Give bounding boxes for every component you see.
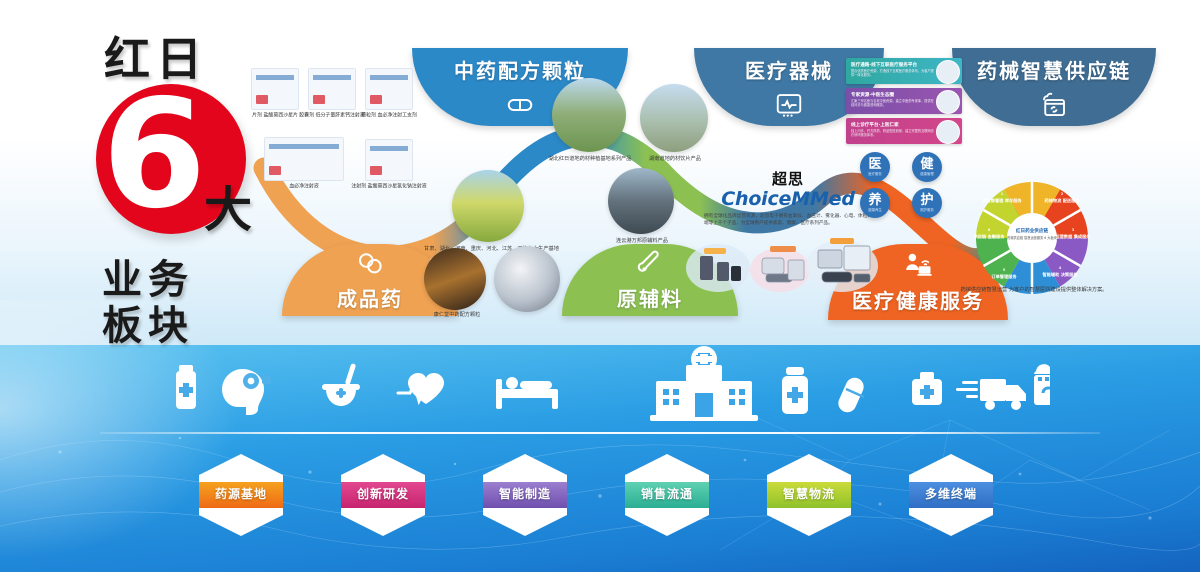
service-card[interactable]: 医疗通路·线下互联医疗服务平台 整合优质医疗资源，打造线下互联医疗服务体系，为客… [846,58,962,84]
hexagon-item[interactable]: 销售流通 [621,452,713,538]
mortar-pestle-icon [322,363,360,406]
hospital-building-icon [650,346,758,421]
product-photo [251,68,299,110]
capsule-icon [505,90,535,120]
photo-plant [608,168,674,234]
donut-label-4: 4智能辅助 决策服务 [1038,266,1082,277]
hexagon-label: 销售流通 [621,485,713,502]
badge-subtitle: 健康养生 [868,208,882,213]
badge-character: 医 [868,158,881,171]
photo-caption: 连云港万邦原辅料产品 [586,238,698,245]
product-caption: 颗粒剂 血必净注射工支剂 [351,112,426,119]
medical-icon-strip [150,345,1050,430]
product-photo [264,137,344,181]
title-line-business: 业务 [102,258,194,302]
value-chain-hexagons: 药源基地 创新研发 智能制造 [195,452,1015,538]
product-item: 胶囊剂 低分子量肝素钙注射液 [305,48,360,117]
card-title: 医疗通路·线下互联医疗服务平台 [851,62,917,68]
badge-jian[interactable]: 健 健康管理 [912,152,942,182]
photo-field [452,170,524,242]
character-da: 大 [204,186,252,234]
donut-label-1: 1供应商管理 库存服务 [980,192,1024,203]
monitor-icon [774,90,804,120]
section-label-text: 成品药 [337,283,403,312]
donut-caption: 药械供应链智慧运营 为客户的智慧医院建设提供整体解决方案。 [946,286,1122,294]
card-thumbnail [936,60,960,84]
telehealth-icon [903,250,933,280]
device-cluster-photos [684,222,884,294]
badge-subtitle: 健康管理 [920,172,934,177]
product-item: 片剂 盐酸莫西沙星片 [248,48,303,117]
cloud-link-icon [1039,90,1069,120]
product-caption: 血必净注射液 [266,183,341,190]
product-caption: 注射剂 盐酸莫西沙星氯化钠注射液 [351,183,426,190]
hexagon-item[interactable]: 创新研发 [337,452,429,538]
card-title: 线上诊疗平台·上医仁家 [851,122,899,128]
hexagon-item[interactable]: 多维终端 [905,452,997,538]
badge-subtitle: 照护服务 [920,208,934,213]
card-body: 整合优质医疗资源，打造线下互联医疗服务体系，为客户提供一体化服务。 [851,69,934,78]
product-photo [365,68,413,110]
infographic-poster: 红日 6 大 业务 板块 中药配方颗 [0,0,1200,572]
product-photo [365,139,413,181]
card-thumbnail [936,120,960,144]
first-aid-kit-icon [912,372,942,405]
photo-base-1 [552,78,626,152]
hexagon-label: 药源基地 [195,485,287,502]
pills-icon [355,248,385,278]
delivery-truck-icon [956,379,1026,410]
photo-caption: 康仁堂中药配方颗粒 [414,312,500,319]
product-photo-grid: 片剂 盐酸莫西沙星片 胶囊剂 低分子量肝素钙注射液 颗粒剂 血必净注射工支剂 血… [248,48,416,188]
service-card[interactable]: 线上诊疗平台·上医仁家 线上问诊、开方抓药、药品配送到家，建立完整的互联网诊疗闭… [846,118,962,144]
hexagon-label: 多维终端 [905,485,997,502]
product-item: 血必净注射液 [248,119,359,188]
hexagon-label: 创新研发 [337,485,429,502]
donut-core-subtitle: 药械供应链 智慧运营服务 6 大板块 [1004,236,1060,240]
capsule-icon [835,375,866,415]
brand-block-choicemmed: 超思 ChoiceMMed 拥有全球化品牌运营资源，超思电子拥有血氧仪、血压计、… [700,168,876,227]
product-photo [308,68,356,110]
brain-gear-icon [222,369,271,415]
badge-yang[interactable]: 养 健康养生 [860,188,890,218]
medicine-bottle-icon [782,367,808,414]
hospital-bed-icon [496,377,558,409]
section-label-text: 药械智慧供应链 [977,55,1131,84]
heartbeat-icon [398,373,444,404]
photo-caption: 湖南道地药材饮片产品 [620,156,730,163]
donut-label-5: 5订单管理服务 [982,268,1026,279]
service-card[interactable]: 专家资源·中医生态圈 汇聚三甲名医与名老中医资源，建立中医药专家库，提供在线问诊… [846,88,962,114]
thermometer-icon [635,248,665,278]
hexagon-label: 智能制造 [479,485,571,502]
card-thumbnail [936,90,960,114]
hexagon-label: 智慧物流 [763,485,855,502]
badge-yi[interactable]: 医 医疗服务 [860,152,890,182]
product-item: 注射剂 盐酸莫西沙星氯化钠注射液 [361,119,416,188]
donut-core-brand: 红日药业供应链 [1010,228,1054,234]
badge-character: 护 [920,194,933,207]
title-line-segments: 板块 [102,304,194,348]
hexagon-item[interactable]: 智能制造 [479,452,571,538]
card-title: 专家资源·中医生态圈 [851,92,894,98]
photo-tongrentang [424,248,486,310]
badge-subtitle: 医疗服务 [868,172,882,177]
hexagon-item[interactable]: 智慧物流 [763,452,855,538]
big-number-six: 6 [102,80,206,230]
brand-name-cn: 超思 [700,168,876,189]
vial-icon [176,365,196,409]
photo-robot [494,246,560,312]
health-service-badges: 医 医疗服务 健 健康管理 养 健康养生 护 照护服务 [860,152,954,216]
cloud-link-icon [1034,364,1050,405]
badge-hu[interactable]: 护 照护服务 [912,188,942,218]
badge-character: 健 [920,158,933,171]
hexagon-item[interactable]: 药源基地 [195,452,287,538]
product-item: 颗粒剂 血必净注射工支剂 [361,48,416,117]
photo-base-2 [640,84,708,152]
card-body: 汇聚三甲名医与名老中医资源，建立中医药专家库，提供在线问诊与健康咨询服务。 [851,99,934,108]
donut-label-2: 2药械物流 配送服务 [1040,192,1084,203]
horizontal-divider [100,432,1100,434]
section-label-text: 中药配方颗粒 [454,55,586,84]
card-body: 线上问诊、开方抓药、药品配送到家，建立完整的互联网诊疗闭环服务体系。 [851,129,934,138]
service-cards: 医疗通路·线下互联医疗服务平台 整合优质医疗资源，打造线下互联医疗服务体系，为客… [846,58,962,150]
brand-name-en: ChoiceMMed [700,188,876,210]
section-label-text: 原辅料 [617,283,683,312]
badge-character: 养 [868,194,881,207]
section-label-text: 医疗器械 [745,55,833,84]
